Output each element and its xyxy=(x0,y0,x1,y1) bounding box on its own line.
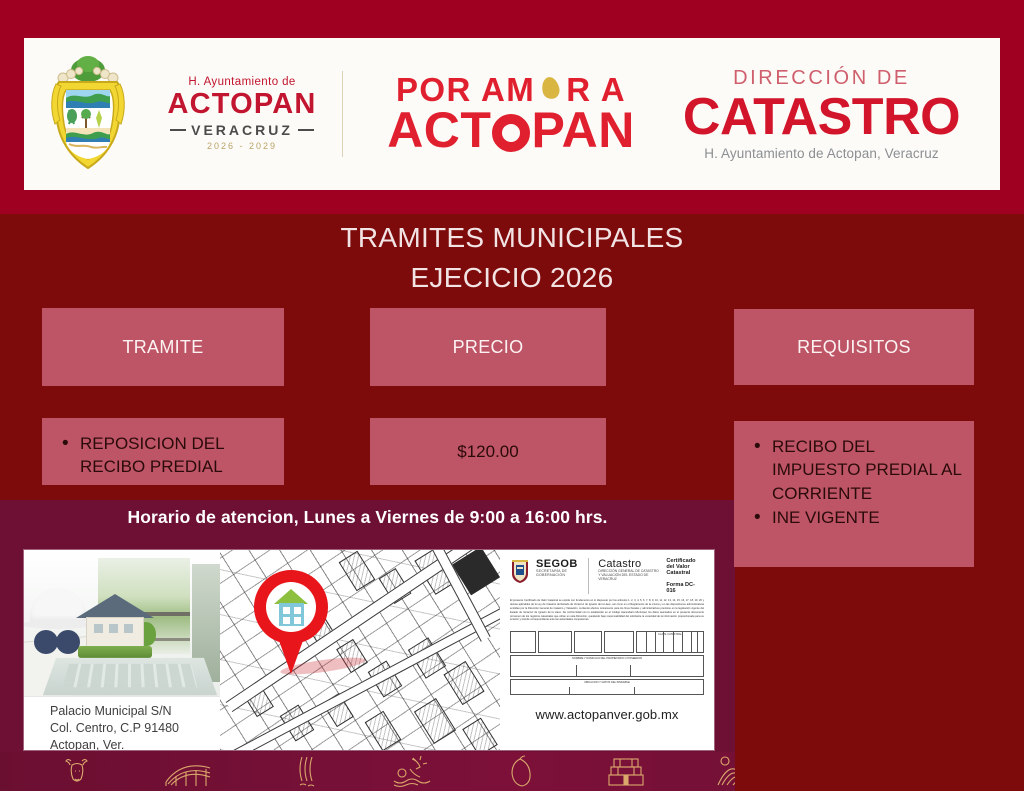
table-cell-tramite: REPOSICION DEL RECIBO PREDIAL xyxy=(42,418,284,485)
catastro-subtitle: H. Ayuntamiento de Actopan, Veracruz xyxy=(661,147,982,161)
field-box-clave-catastral: CLAVE CATASTRAL xyxy=(636,631,704,653)
logo-divider xyxy=(342,71,343,157)
list-item: RECIBO DEL IMPUESTO PREDIAL AL CORRIENTE xyxy=(750,435,962,505)
slogan-line1: POR AMR A xyxy=(361,75,661,105)
slogan-line2-a: ACT xyxy=(387,102,491,158)
ring-o-icon xyxy=(492,114,530,152)
column-header-tramite: TRAMITE xyxy=(42,308,284,386)
architecture-desk-photo xyxy=(24,550,220,696)
footer-strip-right-fill xyxy=(735,752,1024,791)
certificate-field-row: CLAVE CATASTRAL xyxy=(510,631,704,653)
catastro-sublabel: DIRECCIÓN GENERAL DE CATASTRO Y VALUACIÓ… xyxy=(598,570,660,581)
certificate-title: Certificado del Valor Catastral xyxy=(666,558,704,576)
catastro-title: CATASTRO xyxy=(661,91,982,143)
archaeological-pyramid-icon xyxy=(606,755,646,789)
clave-catastral-label: CLAVE CATASTRAL xyxy=(658,633,682,636)
logo-bar: H. Ayuntamiento de ACTOPAN VERACRUZ 2026… xyxy=(24,38,1000,190)
crest-block xyxy=(24,54,152,174)
field-box xyxy=(510,631,536,653)
cadastral-map-pane xyxy=(220,550,500,750)
certificate-paragraph: El presente Certificado de Valor Catastr… xyxy=(510,599,704,627)
address-line1: Palacio Municipal S/N xyxy=(50,703,220,720)
certificate-location-row: UBICACION Y DATOS DEL INMUEBLE xyxy=(510,679,704,695)
certificate-pane: SEGOB SECRETARÍA DE GOBERNACIÓN Catastro… xyxy=(500,550,714,750)
address-line2: Col. Centro, C.P 91480 xyxy=(50,720,220,737)
catastro-lockup: DIRECCIÓN DE CATASTRO H. Ayuntamiento de… xyxy=(661,68,1000,161)
field-box xyxy=(574,631,602,653)
slogan-line1-b: R A xyxy=(566,75,626,105)
owner-section-label: NOMBRE Y DOMICILIO DEL PROPIETARIO O POS… xyxy=(572,657,642,660)
veracruz-state-crest-icon xyxy=(510,558,530,584)
certificate-form-code: Forma DC-016 xyxy=(666,582,704,594)
mango-icon xyxy=(506,755,536,789)
field-box xyxy=(604,631,634,653)
fisherman-icon xyxy=(390,755,436,789)
page-title-line2: EJECICIO 2026 xyxy=(0,258,1024,298)
bridge-icon xyxy=(164,756,224,788)
page-title-line1: TRAMITES MUNICIPALES xyxy=(0,218,1024,258)
location-section-label: UBICACION Y DATOS DEL INMUEBLE xyxy=(584,681,630,684)
table-cell-requisitos: RECIBO DEL IMPUESTO PREDIAL AL CORRIENTE… xyxy=(734,421,974,567)
catastro-line1: DIRECCIÓN DE xyxy=(661,68,982,88)
certificate-owner-row: NOMBRE Y DOMICILIO DEL PROPIETARIO O POS… xyxy=(510,655,704,677)
catastro-block: Catastro DIRECCIÓN GENERAL DE CATASTRO Y… xyxy=(598,558,660,581)
certificate-meta: Certificado del Valor Catastral Forma DC… xyxy=(666,558,704,594)
field-box xyxy=(538,631,572,653)
page-title: TRAMITES MUNICIPALES EJECICIO 2026 xyxy=(0,218,1024,298)
bull-head-icon xyxy=(60,755,94,789)
column-header-precio: PRECIO xyxy=(370,308,606,386)
table-cell-precio: $120.00 xyxy=(370,418,606,485)
slogan-logo: POR AMR A ACTPAN xyxy=(361,75,661,153)
house-model-icon xyxy=(76,594,154,656)
segob-sublabel: SECRETARÍA DE GOBERNACIÓN xyxy=(536,570,578,578)
segob-block: SEGOB SECRETARÍA DE GOBERNACIÓN xyxy=(536,558,578,578)
ayuntamiento-name: ACTOPAN xyxy=(152,90,332,119)
ayuntamiento-state: VERACRUZ xyxy=(152,123,332,137)
website-url: www.actopanver.gob.mx xyxy=(510,707,704,722)
ayuntamiento-lockup: H. Ayuntamiento de ACTOPAN VERACRUZ 2026… xyxy=(152,77,332,152)
address-caption: Palacio Municipal S/N Col. Centro, C.P 9… xyxy=(24,696,220,750)
coat-of-arms-icon xyxy=(49,54,127,174)
image-collage: Palacio Municipal S/N Col. Centro, C.P 9… xyxy=(24,550,714,750)
schedule-text: Horario de atencion, Lunes a Viernes de … xyxy=(0,500,735,534)
list-item: REPOSICION DEL RECIBO PREDIAL xyxy=(58,432,272,479)
map-pin-house-icon xyxy=(254,570,328,674)
list-item: INE VIGENTE xyxy=(750,506,962,529)
slogan-line2: ACTPAN xyxy=(361,107,661,153)
certificate-header: SEGOB SECRETARÍA DE GOBERNACIÓN Catastro… xyxy=(510,558,704,594)
ayuntamiento-line1: H. Ayuntamiento de xyxy=(152,77,332,89)
tramite-list: REPOSICION DEL RECIBO PREDIAL xyxy=(58,432,272,479)
address-line3: Actopan, Ver. xyxy=(50,737,220,750)
mango-fruit-icon xyxy=(540,75,562,100)
ayuntamiento-period: 2026 - 2029 xyxy=(152,142,332,151)
slogan-line1-a: POR AM xyxy=(396,75,535,105)
slogan-line2-b: PAN xyxy=(531,102,634,158)
column-header-requisitos: REQUISITOS xyxy=(734,309,974,385)
waves-icon xyxy=(294,755,320,789)
office-photo-pane: Palacio Municipal S/N Col. Centro, C.P 9… xyxy=(24,550,220,750)
requisitos-list: RECIBO DEL IMPUESTO PREDIAL AL CORRIENTE… xyxy=(750,435,962,530)
